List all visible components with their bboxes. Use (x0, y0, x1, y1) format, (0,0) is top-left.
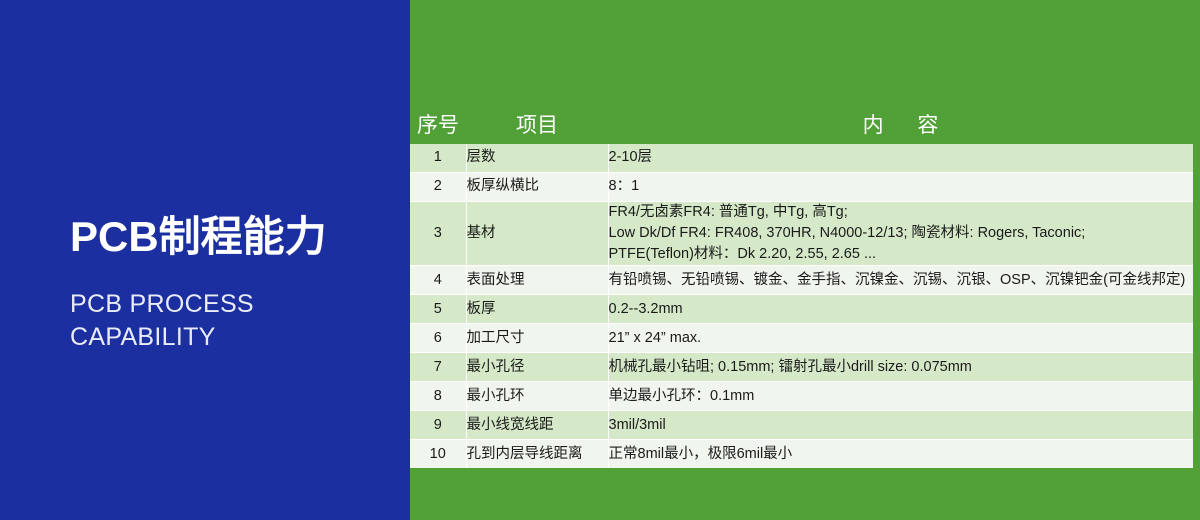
column-header-content: 内 容 (608, 103, 1193, 144)
cell-content: 21” x 24” max. (608, 324, 1193, 353)
cell-content: 机械孔最小钻咀; 0.15mm; 镭射孔最小drill size: 0.075m… (608, 353, 1193, 382)
cell-no: 1 (410, 144, 466, 173)
spec-table-container: 序号 项目 内 容 1层数2-10层2板厚纵横比8：13基材FR4/无卤素FR4… (410, 103, 1193, 468)
cell-content-line: PTFE(Teflon)材料：Dk 2.20, 2.55, 2.65 ... (609, 244, 1194, 265)
column-header-no: 序号 (410, 103, 466, 144)
cell-content-line: 0.2--3.2mm (609, 299, 1194, 320)
cell-content-line: 正常8mil最小，极限6mil最小 (609, 444, 1194, 465)
cell-item: 板厚纵横比 (466, 173, 608, 202)
cell-item: 基材 (466, 202, 608, 266)
cell-content: 有铅喷锡、无铅喷锡、镀金、金手指、沉镍金、沉锡、沉银、OSP、沉镍钯金(可金线邦… (608, 266, 1193, 295)
table-row: 10孔到内层导线距离正常8mil最小，极限6mil最小 (410, 440, 1193, 469)
table-header: 序号 项目 内 容 (410, 103, 1193, 144)
cell-item: 板厚 (466, 295, 608, 324)
cell-content-line: 3mil/3mil (609, 415, 1194, 436)
table-row: 2板厚纵横比8：1 (410, 173, 1193, 202)
page-title-chinese: PCB制程能力 (70, 216, 327, 258)
table-row: 8最小孔环单边最小孔环：0.1mm (410, 382, 1193, 411)
table-header-row: 序号 项目 内 容 (410, 103, 1193, 144)
column-header-item: 项目 (466, 103, 608, 144)
table-row: 6加工尺寸21” x 24” max. (410, 324, 1193, 353)
left-blue-panel: PCB制程能力 PCB PROCESS CAPABILITY (0, 0, 410, 520)
table-row: 9最小线宽线距3mil/3mil (410, 411, 1193, 440)
table-row: 1层数2-10层 (410, 144, 1193, 173)
column-header-content-label: 内 容 (849, 114, 953, 137)
cell-no: 3 (410, 202, 466, 266)
cell-content-line: FR4/无卤素FR4: 普通Tg, 中Tg, 高Tg; (609, 202, 1194, 223)
cell-no: 5 (410, 295, 466, 324)
cell-no: 8 (410, 382, 466, 411)
cell-no: 9 (410, 411, 466, 440)
cell-item: 最小线宽线距 (466, 411, 608, 440)
cell-content-line: Low Dk/Df FR4: FR408, 370HR, N4000-12/13… (609, 223, 1194, 244)
table-row: 4表面处理有铅喷锡、无铅喷锡、镀金、金手指、沉镍金、沉锡、沉银、OSP、沉镍钯金… (410, 266, 1193, 295)
cell-item: 最小孔环 (466, 382, 608, 411)
page-subtitle-line2: CAPABILITY (70, 321, 254, 354)
cell-content: 0.2--3.2mm (608, 295, 1193, 324)
table-body: 1层数2-10层2板厚纵横比8：13基材FR4/无卤素FR4: 普通Tg, 中T… (410, 144, 1193, 468)
cell-content-line: 2-10层 (609, 147, 1194, 168)
cell-item: 表面处理 (466, 266, 608, 295)
table-row: 7最小孔径机械孔最小钻咀; 0.15mm; 镭射孔最小drill size: 0… (410, 353, 1193, 382)
table-row: 5板厚0.2--3.2mm (410, 295, 1193, 324)
cell-content-line: 8：1 (609, 176, 1194, 197)
cell-item: 加工尺寸 (466, 324, 608, 353)
cell-content: FR4/无卤素FR4: 普通Tg, 中Tg, 高Tg;Low Dk/Df FR4… (608, 202, 1193, 266)
cell-no: 7 (410, 353, 466, 382)
cell-content-line: 机械孔最小钻咀; 0.15mm; 镭射孔最小drill size: 0.075m… (609, 357, 1194, 378)
cell-item: 最小孔径 (466, 353, 608, 382)
pcb-capability-table: 序号 项目 内 容 1层数2-10层2板厚纵横比8：13基材FR4/无卤素FR4… (410, 103, 1193, 468)
table-row: 3基材FR4/无卤素FR4: 普通Tg, 中Tg, 高Tg;Low Dk/Df … (410, 202, 1193, 266)
cell-item: 层数 (466, 144, 608, 173)
slide-root: PCB制程能力 PCB PROCESS CAPABILITY 序号 项目 内 容… (0, 0, 1200, 520)
cell-no: 10 (410, 440, 466, 469)
cell-content-line: 单边最小孔环：0.1mm (609, 386, 1194, 407)
cell-content-line: 21” x 24” max. (609, 328, 1194, 349)
cell-content-line: 有铅喷锡、无铅喷锡、镀金、金手指、沉镍金、沉锡、沉银、OSP、沉镍钯金(可金线邦… (609, 270, 1194, 291)
cell-content: 8：1 (608, 173, 1193, 202)
page-subtitle-line1: PCB PROCESS (70, 290, 254, 318)
cell-content: 正常8mil最小，极限6mil最小 (608, 440, 1193, 469)
cell-content: 3mil/3mil (608, 411, 1193, 440)
cell-no: 2 (410, 173, 466, 202)
cell-content: 2-10层 (608, 144, 1193, 173)
cell-no: 4 (410, 266, 466, 295)
cell-content: 单边最小孔环：0.1mm (608, 382, 1193, 411)
page-subtitle-english: PCB PROCESS CAPABILITY (70, 288, 254, 354)
cell-item: 孔到内层导线距离 (466, 440, 608, 469)
cell-no: 6 (410, 324, 466, 353)
